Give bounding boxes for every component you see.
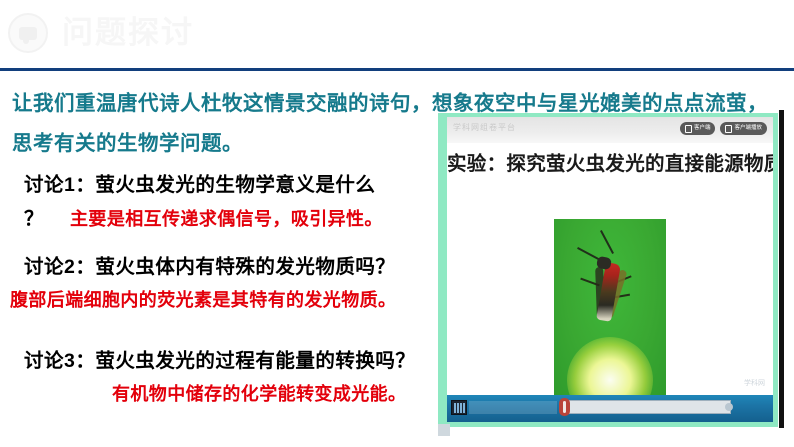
video-overlay-buttons: 客户端 客户端播放 <box>680 122 767 135</box>
discussion-3-answer: 有机物中储存的化学能转变成光能。 <box>112 378 415 410</box>
video-topbar: 学科网组卷平台 客户端 客户端播放 <box>447 117 773 143</box>
video-panel[interactable]: 学科网组卷平台 客户端 客户端播放 实验：探究萤火虫发光的直接能源物质 <box>438 113 778 427</box>
speech-bubble-logo <box>8 13 48 53</box>
progress-handle[interactable] <box>559 398 570 416</box>
video-viewport[interactable]: 学科网组卷平台 客户端 客户端播放 实验：探究萤火虫发光的直接能源物质 <box>447 117 773 422</box>
bottom-left-chip <box>438 424 450 436</box>
discussion-3-question: 讨论3：萤火虫发光的过程有能量的转换吗？ <box>24 344 415 378</box>
discussion-1-answer: 主要是相互传递求偶信号，吸引异性。 <box>70 203 383 235</box>
client-play-button[interactable]: 客户端播放 <box>720 122 767 135</box>
discussion-2-question: 讨论2：萤火虫体内有特殊的发光物质吗？ <box>24 250 396 284</box>
firefly-antenna-right <box>600 230 614 254</box>
discussion-2-answer: 腹部后端细胞内的荧光素是其特有的发光物质。 <box>10 284 396 316</box>
header-band: 问题探讨 <box>0 0 794 64</box>
video-watermark-top: 学科网组卷平台 <box>453 122 516 133</box>
discussion-item-3: 讨论3：萤火虫发光的过程有能量的转换吗？ 有机物中储存的化学能转变成光能。 <box>24 344 415 410</box>
progress-end-marker[interactable] <box>725 403 733 411</box>
header-divider <box>0 68 794 71</box>
discussion-1-question: 讨论1：萤火虫发光的生物学意义是什么 <box>24 168 375 202</box>
media-thumbnail-icon[interactable] <box>451 400 467 415</box>
video-watermark-bottom: 学科网 <box>744 379 765 388</box>
discussion-1-question-tail: ？ <box>24 202 44 236</box>
player-title-strip <box>469 401 557 414</box>
video-title: 实验：探究萤火虫发光的直接能源物质 <box>447 147 773 176</box>
client-button[interactable]: 客户端 <box>680 122 716 135</box>
speech-bubble-logo-tail <box>23 39 29 44</box>
firefly-image <box>554 219 666 399</box>
client-button-label: 客户端 <box>694 126 711 132</box>
client-play-button-label: 客户端播放 <box>734 126 762 132</box>
phone-icon <box>685 125 692 133</box>
progress-scrollbar[interactable] <box>563 400 731 414</box>
external-link-icon <box>725 125 732 133</box>
player-control-bar[interactable] <box>447 395 773 422</box>
page-title: 问题探讨 <box>62 14 194 52</box>
discussion-1-answer-row: ？ 主要是相互传递求偶信号，吸引异性。 <box>24 202 383 236</box>
right-edge-strip <box>779 110 784 428</box>
discussion-item-2: 讨论2：萤火虫体内有特殊的发光物质吗？ 腹部后端细胞内的荧光素是其特有的发光物质… <box>24 250 396 316</box>
firefly-glow <box>567 337 653 399</box>
discussion-item-1: 讨论1：萤火虫发光的生物学意义是什么 <box>24 168 375 202</box>
